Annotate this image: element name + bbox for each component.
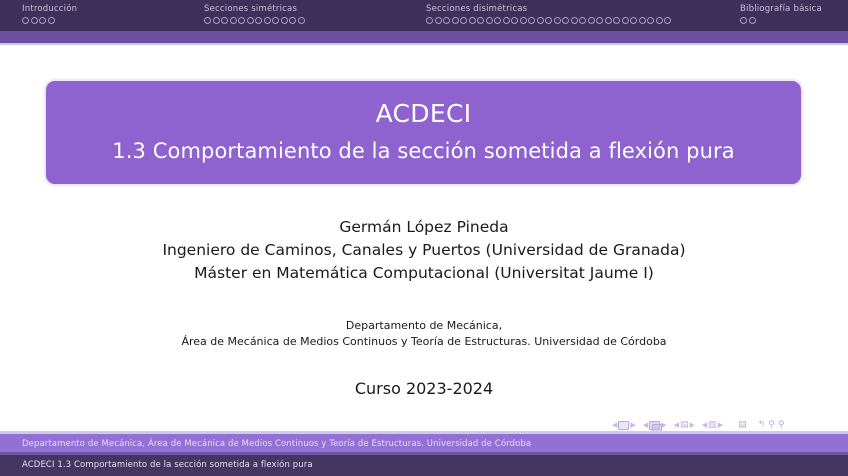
nav-frame-dot[interactable] [630, 17, 637, 24]
back-icon[interactable]: ↰ [758, 421, 766, 430]
nav-frame-dot[interactable] [272, 17, 279, 24]
document-icon[interactable]: ▤ [738, 421, 747, 430]
presentation-slide: Introducción Secciones simétricas Seccio… [0, 0, 848, 476]
slide-header: Introducción Secciones simétricas Seccio… [0, 0, 848, 45]
nav-frame-dot[interactable] [656, 17, 663, 24]
next-section-icon[interactable]: ▶ [718, 422, 723, 429]
subsection-navigation-group[interactable]: ◀ ▤ ▶ [674, 421, 695, 430]
nav-section-secciones-disimetricas[interactable]: Secciones disimétricas [426, 4, 673, 26]
nav-frame-dot[interactable] [639, 17, 646, 24]
title-box: ACDECI 1.3 Comportamiento de la sección … [46, 81, 801, 184]
nav-frame-dot[interactable] [486, 17, 493, 24]
nav-frame-dot[interactable] [579, 17, 586, 24]
nav-frame-dot[interactable] [528, 17, 535, 24]
prev-section-icon[interactable]: ◀ [702, 422, 707, 429]
author-block: Germán López Pineda Ingeniero de Caminos… [0, 216, 848, 285]
section-navigation-group[interactable]: ◀ ▥ ▶ [702, 421, 723, 430]
nav-frame-dot[interactable] [221, 17, 228, 24]
nav-frame-dot[interactable] [460, 17, 467, 24]
nav-frame-dot[interactable] [511, 17, 518, 24]
nav-frame-dot[interactable] [255, 17, 262, 24]
nav-frame-dot[interactable] [298, 17, 305, 24]
frame-icon[interactable] [649, 421, 660, 430]
nav-section-label: Secciones simétricas [204, 4, 306, 15]
nav-section-introduccion[interactable]: Introducción [22, 4, 77, 26]
nav-section-dots[interactable] [426, 17, 673, 26]
nav-frame-dot[interactable] [31, 17, 38, 24]
nav-frame-dot[interactable] [264, 17, 271, 24]
header-mid-band [0, 31, 848, 43]
header-divider-line [0, 43, 848, 45]
slide-navigation-group[interactable]: ◀ ▶ [612, 421, 636, 430]
next-subsection-icon[interactable]: ▶ [689, 422, 694, 429]
nav-section-label: Bibliografía básica [740, 4, 822, 15]
nav-frame-dot[interactable] [740, 17, 747, 24]
nav-frame-dot[interactable] [230, 17, 237, 24]
nav-frame-dot[interactable] [554, 17, 561, 24]
find-icon[interactable]: ⚲ [778, 421, 785, 430]
nav-frame-dot[interactable] [749, 17, 756, 24]
nav-frame-dot[interactable] [562, 17, 569, 24]
nav-section-secciones-simetricas[interactable]: Secciones simétricas [204, 4, 306, 26]
beamer-navigation-symbols[interactable]: ◀ ▶ ◀ ▶ ◀ ▤ ▶ ◀ ▥ ▶ ▤ ↰ ⚲ ⚲ [612, 418, 784, 432]
section-icon[interactable]: ▥ [708, 421, 717, 430]
nav-frame-dot[interactable] [247, 17, 254, 24]
nav-frame-dot[interactable] [452, 17, 459, 24]
nav-frame-dot[interactable] [213, 17, 220, 24]
nav-frame-dot[interactable] [22, 17, 29, 24]
prev-frame-icon[interactable]: ◀ [643, 422, 648, 429]
frame-navigation-group[interactable]: ◀ ▶ [643, 421, 667, 430]
nav-frame-dot[interactable] [443, 17, 450, 24]
author-credential-2: Máster en Matemática Computacional (Univ… [0, 262, 848, 285]
nav-section-label: Introducción [22, 4, 77, 15]
author-name: Germán López Pineda [0, 216, 848, 239]
nav-frame-dot[interactable] [520, 17, 527, 24]
nav-frame-dot[interactable] [605, 17, 612, 24]
nav-frame-dot[interactable] [238, 17, 245, 24]
nav-frame-dot[interactable] [435, 17, 442, 24]
institute-line-1: Departamento de Mecánica, [0, 318, 848, 334]
nav-frame-dot[interactable] [469, 17, 476, 24]
nav-frame-dot[interactable] [596, 17, 603, 24]
institute-block: Departamento de Mecánica, Área de Mecáni… [0, 318, 848, 350]
prev-slide-icon[interactable]: ◀ [612, 422, 617, 429]
nav-frame-dot[interactable] [571, 17, 578, 24]
nav-frame-dot[interactable] [622, 17, 629, 24]
nav-frame-dot[interactable] [537, 17, 544, 24]
nav-frame-dot[interactable] [281, 17, 288, 24]
nav-frame-dot[interactable] [545, 17, 552, 24]
course-date: Curso 2023-2024 [0, 379, 848, 398]
prev-subsection-icon[interactable]: ◀ [674, 422, 679, 429]
nav-frame-dot[interactable] [204, 17, 211, 24]
subsection-icon[interactable]: ▤ [680, 421, 689, 430]
page-title: ACDECI [376, 99, 472, 129]
footer-institute-text: Departamento de Mecánica, Área de Mecáni… [22, 434, 531, 455]
nav-frame-dot[interactable] [503, 17, 510, 24]
page-subtitle: 1.3 Comportamiento de la sección sometid… [112, 136, 734, 166]
section-navigation: Introducción Secciones simétricas Seccio… [0, 0, 848, 31]
nav-frame-dot[interactable] [477, 17, 484, 24]
author-credential-1: Ingeniero de Caminos, Canales y Puertos … [0, 239, 848, 262]
nav-section-bibliografia-basica[interactable]: Bibliografía básica [740, 4, 822, 26]
nav-frame-dot[interactable] [588, 17, 595, 24]
nav-frame-dot[interactable] [39, 17, 46, 24]
nav-section-label: Secciones disimétricas [426, 4, 673, 15]
nav-section-dots[interactable] [740, 17, 822, 26]
footer-title-text: ACDECI 1.3 Comportamiento de la sección … [22, 455, 313, 476]
nav-frame-dot[interactable] [647, 17, 654, 24]
nav-frame-dot[interactable] [664, 17, 671, 24]
nav-section-dots[interactable] [22, 17, 77, 26]
nav-frame-dot[interactable] [613, 17, 620, 24]
nav-section-dots[interactable] [204, 17, 306, 26]
search-icon[interactable]: ⚲ [768, 421, 775, 430]
slide-icon[interactable] [618, 421, 629, 430]
nav-frame-dot[interactable] [494, 17, 501, 24]
nav-frame-dot[interactable] [426, 17, 433, 24]
nav-frame-dot[interactable] [289, 17, 296, 24]
institute-line-2: Área de Mecánica de Medios Continuos y T… [0, 334, 848, 350]
nav-frame-dot[interactable] [48, 17, 55, 24]
next-slide-icon[interactable]: ▶ [630, 422, 635, 429]
